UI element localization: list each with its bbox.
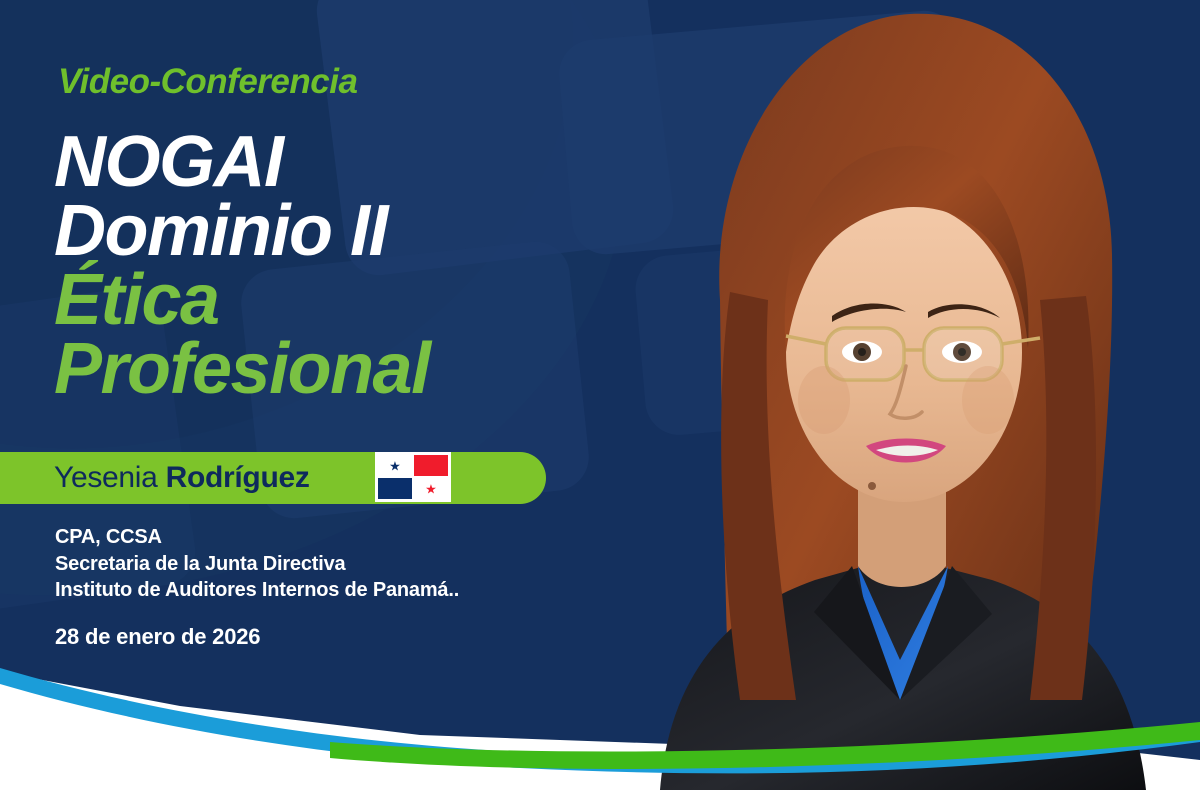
credential-line-2: Secretaria de la Junta Directiva (55, 551, 459, 578)
flag-quadrant-top-left: ★ (378, 455, 412, 476)
speaker-first-name: Yesenia (54, 461, 166, 494)
eyebrow-label: Video-Conferencia (58, 62, 357, 102)
flag-quadrant-top-right (414, 455, 448, 476)
page-title: NOGAI Dominio II Ética Profesional (54, 128, 430, 404)
credential-line-1: CPA, CCSA (55, 524, 459, 551)
speaker-name: Yesenia Rodríguez (54, 461, 310, 495)
flag-star-navy: ★ (389, 459, 401, 472)
title-line-2: Dominio II (54, 197, 430, 266)
flag-quadrant-bottom-right: ★ (414, 478, 448, 499)
credential-line-3: Instituto de Auditores Internos de Panam… (55, 577, 459, 604)
panama-flag-icon: ★ ★ (375, 452, 451, 502)
title-line-1: NOGAI (54, 128, 430, 197)
title-line-3: Ética (54, 266, 430, 335)
speaker-credentials: CPA, CCSA Secretaria de la Junta Directi… (55, 524, 459, 604)
event-date: 28 de enero de 2026 (55, 624, 260, 650)
speaker-last-name: Rodríguez (166, 461, 310, 494)
flag-star-red: ★ (425, 482, 437, 495)
flag-quadrant-bottom-left (378, 478, 412, 499)
portrait-illustration (600, 0, 1200, 790)
speaker-portrait (600, 0, 1200, 790)
title-line-4: Profesional (54, 335, 430, 404)
speaker-name-badge: Yesenia Rodríguez (0, 452, 546, 504)
video-conference-banner: Video-Conferencia NOGAI Dominio II Ética… (0, 0, 1200, 800)
